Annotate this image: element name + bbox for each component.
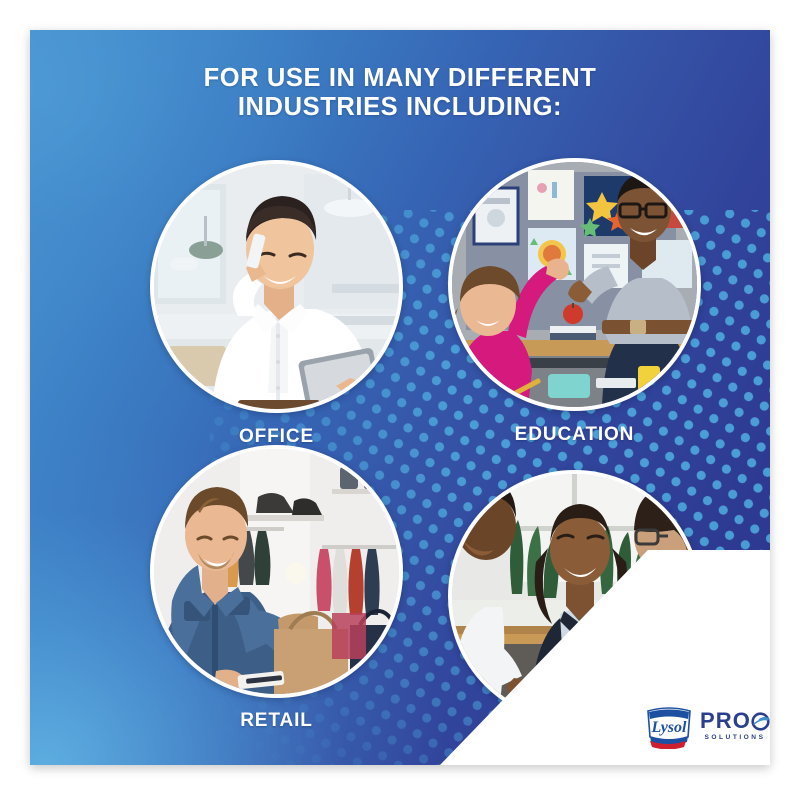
education-photo bbox=[452, 162, 697, 407]
industry-photo-education bbox=[448, 158, 701, 411]
svg-text:Lysol: Lysol bbox=[651, 719, 688, 736]
solutions-text: SOLUTIONS bbox=[705, 735, 766, 742]
pro-text: PRO bbox=[700, 710, 751, 732]
retail-photo bbox=[154, 449, 399, 694]
headline-line-1: FOR USE IN MANY DIFFERENT bbox=[30, 64, 770, 93]
industry-label-office: OFFICE bbox=[150, 426, 403, 448]
industry-label-retail: RETAIL bbox=[150, 710, 403, 732]
pro-wordmark: PRO bbox=[700, 710, 770, 732]
lysol-logo-icon: Lysol bbox=[645, 703, 693, 749]
office-photo bbox=[154, 164, 399, 409]
poster-canvas: FOR USE IN MANY DIFFERENT INDUSTRIES INC… bbox=[0, 0, 800, 800]
industry-label-education: EDUCATION bbox=[448, 424, 701, 446]
pro-swoosh-icon bbox=[751, 712, 770, 731]
poster-panel: FOR USE IN MANY DIFFERENT INDUSTRIES INC… bbox=[30, 30, 770, 765]
industry-photo-office bbox=[150, 160, 403, 413]
industry-photo-retail bbox=[150, 445, 403, 698]
headline-line-2: INDUSTRIES INCLUDING: bbox=[30, 93, 770, 122]
pro-solutions-lockup: PRO SOLUTIONS bbox=[700, 710, 770, 742]
brand-logo: Lysol PRO SOLUTIONS bbox=[645, 697, 763, 755]
poster-headline: FOR USE IN MANY DIFFERENT INDUSTRIES INC… bbox=[30, 64, 770, 122]
